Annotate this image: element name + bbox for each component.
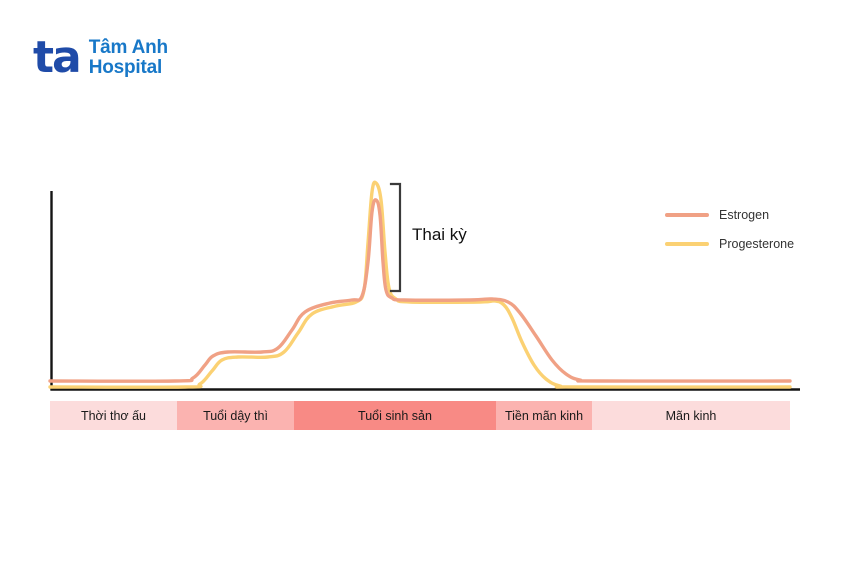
logo-line-1: Tâm Anh bbox=[89, 38, 168, 58]
legend-swatch-progesterone bbox=[665, 242, 709, 246]
legend-item-estrogen: Estrogen bbox=[665, 208, 794, 222]
life-phase-bands: Thời thơ ấuTuổi dậy thìTuổi sinh sảnTiền… bbox=[50, 401, 790, 430]
pregnancy-bracket bbox=[391, 184, 400, 291]
phase-band-label: Tuổi dậy thì bbox=[203, 409, 268, 423]
logo-wordmark: Tâm Anh Hospital bbox=[89, 38, 168, 78]
phase-band-0: Thời thơ ấu bbox=[50, 401, 177, 430]
phase-band-4: Mãn kinh bbox=[592, 401, 790, 430]
phase-band-2: Tuổi sinh sản bbox=[294, 401, 496, 430]
phase-band-3: Tiền mãn kinh bbox=[496, 401, 592, 430]
phase-band-1: Tuổi dậy thì bbox=[177, 401, 294, 430]
legend-swatch-estrogen bbox=[665, 213, 709, 217]
legend-item-progesterone: Progesterone bbox=[665, 237, 794, 251]
legend-label: Estrogen bbox=[719, 208, 769, 222]
phase-band-label: Tiền mãn kinh bbox=[505, 409, 583, 423]
logo-line-2: Hospital bbox=[89, 58, 168, 78]
phase-band-label: Thời thơ ấu bbox=[81, 409, 146, 423]
bracket-shape bbox=[391, 184, 400, 291]
chart-legend: EstrogenProgesterone bbox=[665, 208, 794, 251]
pregnancy-bracket-label: Thai kỳ bbox=[412, 225, 467, 245]
phase-band-label: Tuổi sinh sản bbox=[358, 409, 432, 423]
brand-logo: ta Tâm Anh Hospital bbox=[33, 38, 168, 78]
phase-band-label: Mãn kinh bbox=[666, 409, 717, 423]
logo-mark: ta bbox=[33, 38, 80, 78]
legend-label: Progesterone bbox=[719, 237, 794, 251]
hormone-level-chart bbox=[0, 0, 847, 565]
